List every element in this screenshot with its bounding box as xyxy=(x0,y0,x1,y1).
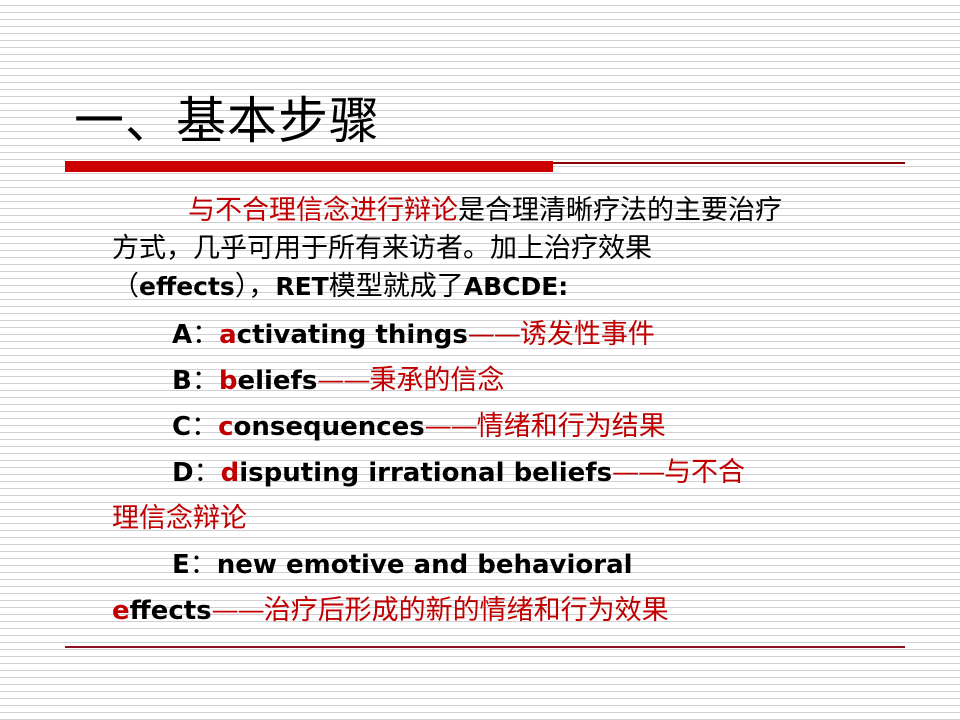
item-b-word: eliefs xyxy=(237,366,317,396)
list-item-c: C：consequences——情绪和行为结果 xyxy=(112,404,912,450)
item-e-dash: —— xyxy=(212,595,264,626)
list-item-d: D：disputing irrational beliefs——与不合 xyxy=(112,450,912,496)
item-b-colon: ： xyxy=(192,365,219,396)
item-d-letter: D xyxy=(172,458,194,488)
item-b-letter: B xyxy=(172,366,192,396)
intro-highlight: 与不合理信念进行辩论 xyxy=(188,195,458,226)
item-a-gloss: 诱发性事件 xyxy=(520,319,655,350)
footer-rule xyxy=(65,646,905,648)
title-accent-bar xyxy=(65,161,553,172)
list-item-d-continuation: 理信念辩论 xyxy=(112,496,912,542)
item-d-gloss: 与不合 xyxy=(664,457,745,488)
list-item-a: A：activating things——诱发性事件 xyxy=(112,312,912,358)
item-a-word: ctivating things xyxy=(237,320,468,350)
item-e-word: new emotive and behavioral xyxy=(217,550,633,580)
intro-comma: ， xyxy=(248,271,275,302)
item-a-dash: —— xyxy=(468,319,520,350)
list-item-e-continuation: effects——治疗后形成的新的情绪和行为效果 xyxy=(112,588,912,634)
intro-rest-1: 是合理清晰疗法的主要治疗 xyxy=(458,195,782,226)
item-e-colon: ： xyxy=(190,549,217,580)
list-item-b: B：beliefs——秉承的信念 xyxy=(112,358,912,404)
item-d-gloss-wrap: 理信念辩论 xyxy=(112,503,247,534)
item-a-initial: a xyxy=(219,320,237,350)
intro-paragraph-line-3: （effects），RET模型就成了ABCDE: xyxy=(112,268,912,306)
intro-rest-2: 方式，几乎可用于所有来访者。加上治疗效果 xyxy=(112,233,652,264)
item-b-gloss: 秉承的信念 xyxy=(369,365,504,396)
page-title: 一、基本步骤 xyxy=(74,93,380,149)
intro-paragraph-line-1: 与不合理信念进行辩论是合理清晰疗法的主要治疗 xyxy=(112,192,912,230)
slide-canvas: 一、基本步骤 与不合理信念进行辩论是合理清晰疗法的主要治疗 方式，几乎可用于所有… xyxy=(0,0,960,720)
item-b-dash: —— xyxy=(317,365,369,396)
item-a-letter: A xyxy=(172,320,192,350)
paren-close: ） xyxy=(235,271,249,302)
item-c-letter: C xyxy=(172,412,191,442)
item-c-initial: c xyxy=(218,412,233,442)
item-d-colon: ： xyxy=(194,457,221,488)
item-a-colon: ： xyxy=(192,319,219,350)
item-e-initial: e xyxy=(112,596,130,626)
effects-term: effects xyxy=(139,272,235,301)
list-item-e: E：new emotive and behavioral xyxy=(112,542,912,588)
item-e-letter: E xyxy=(172,550,190,580)
item-d-dash: —— xyxy=(612,457,664,488)
item-e-word-wrap: ffects xyxy=(130,596,212,626)
item-b-initial: b xyxy=(219,366,238,396)
paren-open: （ xyxy=(112,271,139,302)
body-content: 与不合理信念进行辩论是合理清晰疗法的主要治疗 方式，几乎可用于所有来访者。加上治… xyxy=(112,192,912,634)
ret-term: RET xyxy=(275,272,328,301)
item-e-gloss: 治疗后形成的新的情绪和行为效果 xyxy=(264,595,669,626)
item-c-word: onsequences xyxy=(234,412,425,442)
item-d-word: isputing irrational beliefs xyxy=(239,458,612,488)
item-c-colon: ： xyxy=(191,411,218,442)
item-c-dash: —— xyxy=(425,411,477,442)
item-c-gloss: 情绪和行为结果 xyxy=(477,411,666,442)
abcde-term: ABCDE: xyxy=(464,272,569,301)
item-d-initial: d xyxy=(221,458,240,488)
intro-rest-3: 模型就成了 xyxy=(329,271,464,302)
intro-paragraph-line-2: 方式，几乎可用于所有来访者。加上治疗效果 xyxy=(112,230,912,268)
